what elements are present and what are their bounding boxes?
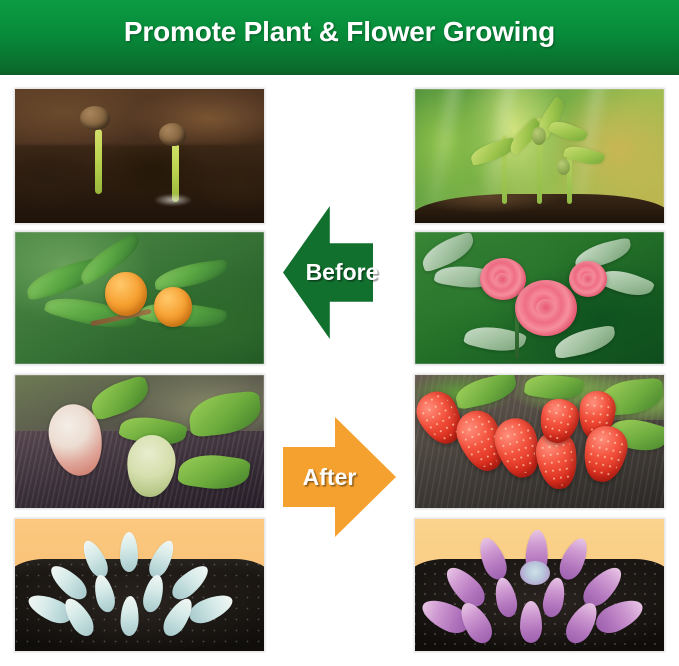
seed-husk xyxy=(159,123,186,146)
photo-seedlings-after xyxy=(414,88,665,224)
sprout-stem xyxy=(95,129,102,193)
before-arrow-label: Before xyxy=(306,259,379,286)
soil-mound xyxy=(14,145,265,224)
before-arrow: Before xyxy=(283,206,373,339)
flower-bud xyxy=(105,272,147,316)
header-banner: Promote Plant & Flower Growing xyxy=(0,0,679,75)
after-arrow-label: After xyxy=(303,464,357,491)
photo-roses-after xyxy=(414,231,665,365)
seed-bud xyxy=(532,127,546,145)
seed-husk xyxy=(80,106,110,130)
root-fuzz xyxy=(154,194,192,206)
page-title: Promote Plant & Flower Growing xyxy=(0,16,679,48)
seed-bud xyxy=(557,159,570,175)
succulent-core xyxy=(520,561,550,585)
photo-succulent-after xyxy=(414,518,665,652)
photo-seedlings-before xyxy=(14,88,265,224)
photo-strawberries-before xyxy=(14,374,265,509)
after-arrow: After xyxy=(283,417,396,537)
photo-strawberries-after xyxy=(414,374,665,509)
rose-bloom xyxy=(515,280,577,336)
photo-succulent-before xyxy=(14,518,265,652)
photo-comparison-grid xyxy=(0,75,679,666)
photo-flower-buds-before xyxy=(14,231,265,365)
